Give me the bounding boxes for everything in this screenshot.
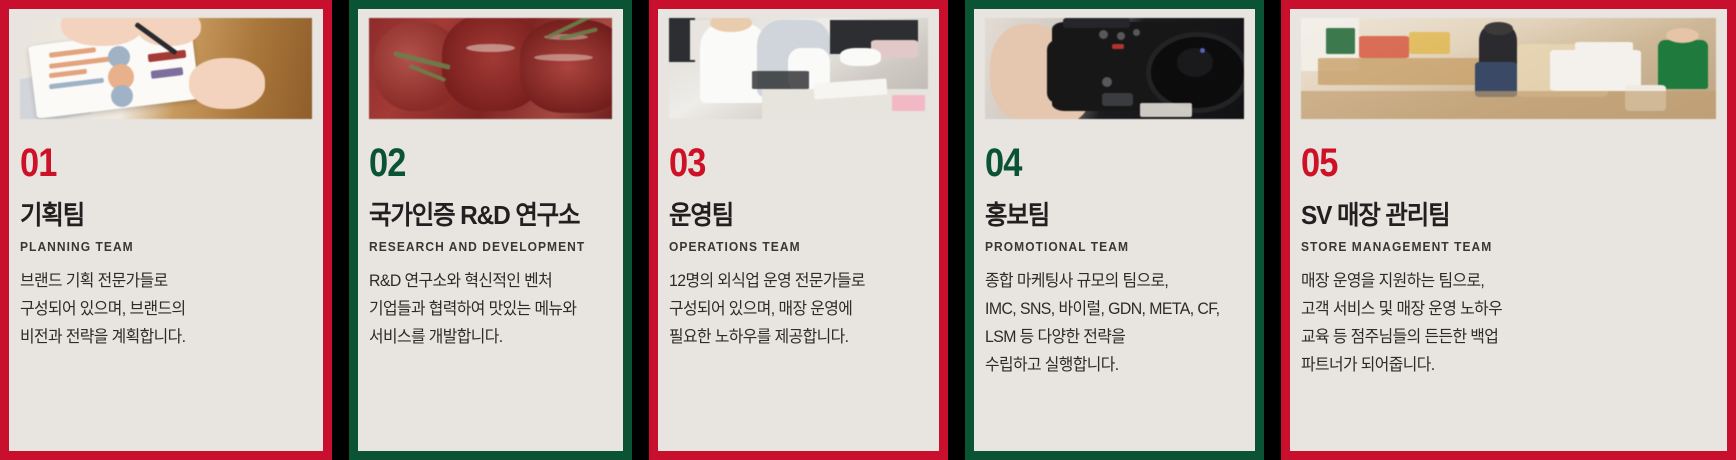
body-line: 고객 서비스 및 매장 운영 노하우 [1301,295,1704,323]
card-number-05: 05 [1301,143,1338,183]
body-line: 브랜드 기획 전문가들로 [20,267,305,295]
card-body-01: 브랜드 기획 전문가들로 구성되어 있으며, 브랜드의 비전과 전략을 계획합니… [20,267,317,351]
body-line: 비전과 전략을 계획합니다. [20,323,305,351]
body-line: LSM 등 다양한 전략을 [985,323,1238,351]
team-card-02[interactable]: 02 국가인증 R&D 연구소 RESEARCH AND DEVELOPMENT… [349,0,632,460]
body-line: 구성되어 있으며, 브랜드의 [20,295,305,323]
team-card-04[interactable]: 04 홍보팀 PROMOTIONAL TEAM 종합 마케팅사 규모의 팀으로,… [965,0,1264,460]
photo-raw-beef-steak [369,18,612,119]
card-gap [632,0,649,460]
card-gap [1264,0,1281,460]
card-gap [332,0,349,460]
card-title-01: 기획팀 [20,201,84,229]
body-line: 수립하고 실행합니다. [985,351,1238,379]
card-gap [948,0,965,460]
card-title-04: 홍보팀 [985,201,1049,229]
card-subtitle-04: PROMOTIONAL TEAM [985,240,1129,254]
team-card-01[interactable]: 01 기획팀 PLANNING TEAM 브랜드 기획 전문가들로 구성되어 있… [0,0,332,460]
photo-dslr-camera [985,18,1244,119]
body-line: 기업들과 협력하여 맛있는 메뉴와 [369,295,607,323]
card-title-03: 운영팀 [669,201,733,229]
card-inner-04: 04 홍보팀 PROMOTIONAL TEAM 종합 마케팅사 규모의 팀으로,… [974,9,1255,451]
body-line: R&D 연구소와 혁신적인 벤처 [369,267,607,295]
body-line: 12명의 외식업 운영 전문가들로 [669,267,922,295]
card-title-05: SV 매장 관리팀 [1301,201,1449,229]
photo-hands-reviewing-charts [20,18,312,119]
photo-meeting-desk [669,18,928,119]
card-number-01: 01 [20,143,57,183]
card-body-02: R&D 연구소와 혁신적인 벤처 기업들과 협력하여 맛있는 메뉴와 서비스를 … [369,267,617,351]
body-line: 교육 등 점주님들의 든든한 백업 [1301,323,1704,351]
body-line: 파트너가 되어줍니다. [1301,351,1704,379]
team-cards-board: 01 기획팀 PLANNING TEAM 브랜드 기획 전문가들로 구성되어 있… [0,0,1736,460]
team-card-05[interactable]: 05 SV 매장 관리팀 STORE MANAGEMENT TEAM 매장 운영… [1281,0,1736,460]
body-line: 서비스를 개발합니다. [369,323,607,351]
card-subtitle-01: PLANNING TEAM [20,240,134,254]
team-card-03[interactable]: 03 운영팀 OPERATIONS TEAM 12명의 외식업 운영 전문가들로… [649,0,948,460]
card-body-03: 12명의 외식업 운영 전문가들로 구성되어 있으며, 매장 운영에 필요한 노… [669,267,933,351]
card-subtitle-03: OPERATIONS TEAM [669,240,801,254]
body-line: IMC, SNS, 바이럴, GDN, META, CF, [985,295,1238,323]
card-inner-02: 02 국가인증 R&D 연구소 RESEARCH AND DEVELOPMENT… [358,9,623,451]
card-inner-05: 05 SV 매장 관리팀 STORE MANAGEMENT TEAM 매장 운영… [1290,9,1727,451]
card-inner-03: 03 운영팀 OPERATIONS TEAM 12명의 외식업 운영 전문가들로… [658,9,939,451]
card-body-05: 매장 운영을 지원하는 팀으로, 고객 서비스 및 매장 운영 노하우 교육 등… [1301,267,1721,379]
card-inner-01: 01 기획팀 PLANNING TEAM 브랜드 기획 전문가들로 구성되어 있… [9,9,323,451]
body-line: 종합 마케팅사 규모의 팀으로, [985,267,1238,295]
photo-store-interior [1301,18,1716,119]
card-subtitle-02: RESEARCH AND DEVELOPMENT [369,240,585,254]
card-title-02: 국가인증 R&D 연구소 [369,201,579,229]
card-number-03: 03 [669,143,706,183]
card-number-04: 04 [985,143,1022,183]
card-number-02: 02 [369,143,406,183]
body-line: 매장 운영을 지원하는 팀으로, [1301,267,1704,295]
body-line: 필요한 노하우를 제공합니다. [669,323,922,351]
card-body-04: 종합 마케팅사 규모의 팀으로, IMC, SNS, 바이럴, GDN, MET… [985,267,1249,379]
card-subtitle-05: STORE MANAGEMENT TEAM [1301,240,1492,254]
body-line: 구성되어 있으며, 매장 운영에 [669,295,922,323]
